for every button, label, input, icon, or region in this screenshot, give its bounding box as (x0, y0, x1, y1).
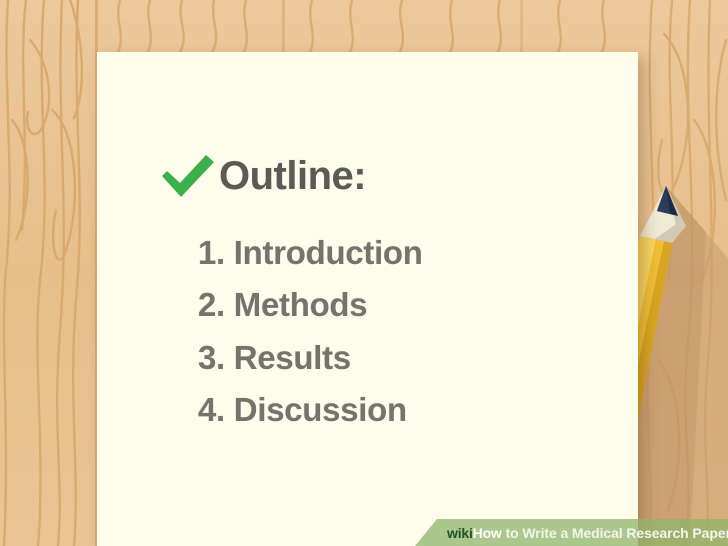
list-item: 4. Discussion (198, 391, 423, 429)
wikihow-watermark: wikiHowto Write a Medical Research Paper (415, 519, 728, 546)
watermark-how-label: How (473, 525, 502, 541)
watermark-text: wikiHowto Write a Medical Research Paper (447, 519, 724, 546)
watermark-article-title: to Write a Medical Research Paper (506, 525, 728, 541)
page-title: Outline: (219, 156, 366, 196)
outline-list: 1. Introduction 2. Methods 3. Results 4.… (198, 234, 423, 443)
list-item: 2. Methods (198, 286, 423, 324)
green-check-icon (159, 152, 217, 200)
watermark-wiki-label: wiki (447, 525, 473, 541)
illustration-scene: wikihow Outline: 1. Introduction 2. Meth… (0, 0, 728, 546)
list-item: 1. Introduction (198, 234, 423, 272)
list-item: 3. Results (198, 339, 423, 377)
outline-heading-row: Outline: (159, 152, 366, 200)
paper-sheet: Outline: 1. Introduction 2. Methods 3. R… (97, 52, 638, 546)
